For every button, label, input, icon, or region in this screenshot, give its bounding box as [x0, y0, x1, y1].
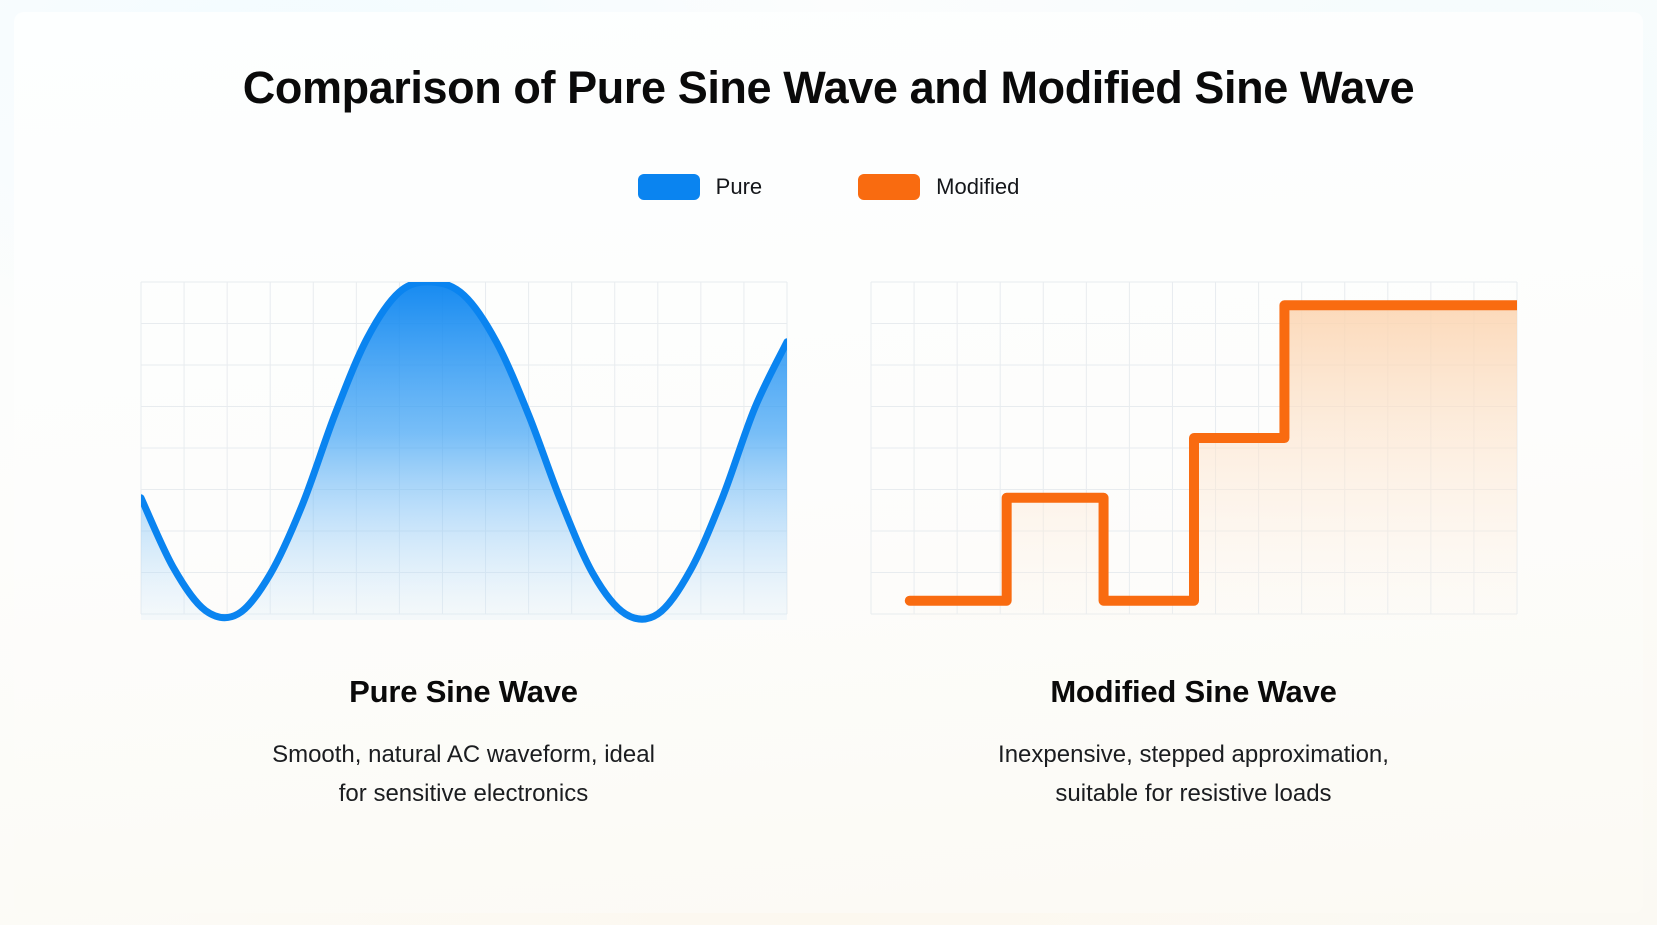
panel-description-pure-line-1: Smooth, natural AC waveform, ideal	[272, 736, 655, 775]
panel-description-modified-line-2: suitable for resistive loads	[998, 775, 1389, 814]
legend-item-pure[interactable]: Pure	[638, 174, 762, 200]
chart-legend: Pure Modified	[14, 174, 1643, 200]
content-frame: Comparison of Pure Sine Wave and Modifie…	[14, 12, 1643, 913]
panel-modified-sine-wave: Modified Sine Wave Inexpensive, stepped …	[866, 264, 1522, 814]
page-title: Comparison of Pure Sine Wave and Modifie…	[14, 62, 1643, 114]
panel-description-pure-line-2: for sensitive electronics	[272, 775, 655, 814]
pure-sine-wave-svg	[138, 264, 790, 626]
legend-item-modified[interactable]: Modified	[858, 174, 1019, 200]
panel-description-pure: Smooth, natural AC waveform, ideal for s…	[272, 736, 655, 814]
panel-description-modified-line-1: Inexpensive, stepped approximation,	[998, 736, 1389, 775]
legend-label-modified: Modified	[936, 176, 1019, 198]
modified-sine-wave-svg	[868, 264, 1520, 626]
comparison-panels: Pure Sine Wave Smooth, natural AC wavefo…	[14, 264, 1643, 814]
panel-heading-pure: Pure Sine Wave	[349, 674, 578, 710]
panel-heading-modified: Modified Sine Wave	[1050, 674, 1336, 710]
legend-swatch-blue-icon	[638, 174, 700, 200]
legend-swatch-orange-icon	[858, 174, 920, 200]
panel-description-modified: Inexpensive, stepped approximation, suit…	[998, 736, 1389, 814]
chart-modified-sine-wave[interactable]	[868, 264, 1520, 626]
chart-pure-sine-wave[interactable]	[138, 264, 790, 626]
page-background: Comparison of Pure Sine Wave and Modifie…	[0, 0, 1657, 925]
legend-label-pure: Pure	[716, 176, 762, 198]
panel-pure-sine-wave: Pure Sine Wave Smooth, natural AC wavefo…	[136, 264, 792, 814]
